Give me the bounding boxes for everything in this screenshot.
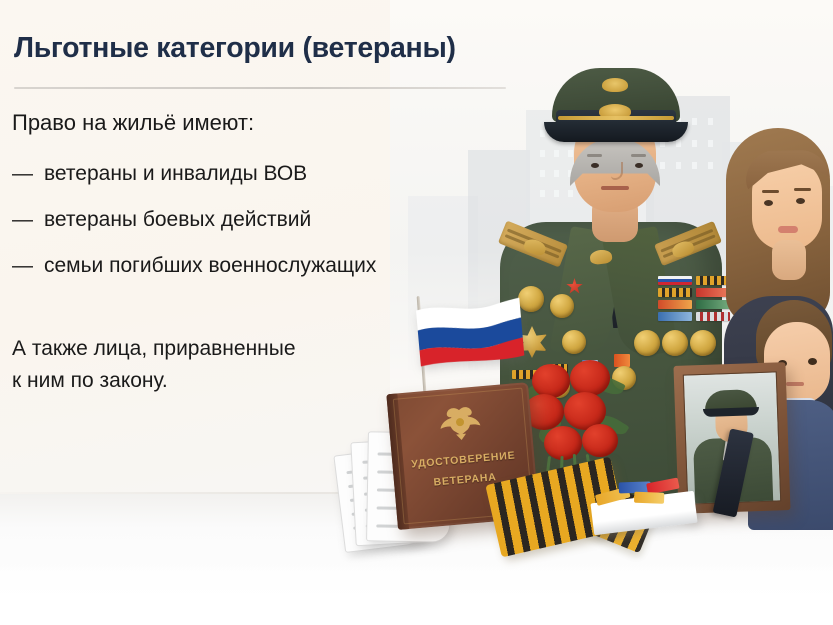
carnation: [582, 424, 618, 457]
medal: [690, 330, 716, 356]
list-item: — ветераны и инвалиды ВОВ: [12, 162, 376, 186]
boy-mouth: [786, 382, 804, 386]
russian-tricolor-flag: [415, 296, 524, 367]
slide: Льготные категории (ветераны) Право на ж…: [0, 0, 833, 625]
list-item-label: ветераны и инвалиды ВОВ: [44, 162, 307, 186]
outro-text: А также лица, приравненные к ним по зако…: [12, 333, 296, 397]
double-headed-eagle-icon: [438, 402, 483, 444]
ribbon-bar: [658, 312, 692, 321]
page-title: Льготные категории (ветераны): [14, 32, 456, 65]
lead-text: Право на жильё имеют:: [12, 110, 254, 136]
woman-eyebrow-right: [794, 188, 811, 191]
medal: [634, 330, 660, 356]
dash-marker: —: [12, 208, 33, 232]
medal: [518, 286, 544, 312]
dash-marker: —: [12, 162, 33, 186]
carnation: [570, 360, 610, 396]
list-item-label: семьи погибших военнослужащих: [44, 254, 376, 278]
carnation: [544, 426, 582, 460]
eyebrow-left: [587, 154, 602, 157]
medal: [550, 294, 574, 318]
woman-neck: [772, 240, 806, 280]
list-item-label: ветераны боевых действий: [44, 208, 311, 232]
woman-lips: [778, 226, 798, 233]
bottom-fade: [0, 556, 833, 625]
eligibility-list: — ветераны и инвалиды ВОВ — ветераны бое…: [12, 162, 376, 300]
carnation: [532, 364, 570, 398]
woman-eye-right: [796, 198, 805, 204]
eye-left: [591, 163, 599, 168]
woman-eyebrow-left: [762, 190, 779, 193]
eye-right: [635, 163, 643, 168]
boy-eye-right: [808, 358, 817, 365]
ribbon-bar: [658, 288, 692, 297]
cap-badge-icon: [602, 78, 628, 92]
ribbon-bar-tricolor: [658, 276, 692, 285]
list-item: — семьи погибших военнослужащих: [12, 254, 376, 278]
title-divider: [14, 87, 506, 89]
eyebrow-right: [631, 154, 646, 157]
dash-marker: —: [12, 254, 33, 278]
outro-line-1: А также лица, приравненные: [12, 333, 296, 365]
outro-line-2: к ним по закону.: [12, 365, 296, 397]
woman-eye-left: [764, 200, 773, 206]
flag-svg: [415, 296, 524, 367]
list-item: — ветераны боевых действий: [12, 208, 376, 232]
cap-chin-cord: [558, 116, 674, 120]
portrait-cap-visor: [703, 407, 759, 417]
ribbon-bar: [658, 300, 692, 309]
medal: [562, 330, 586, 354]
medal: [662, 330, 688, 356]
cap-visor: [544, 122, 688, 142]
mouth: [601, 186, 629, 190]
